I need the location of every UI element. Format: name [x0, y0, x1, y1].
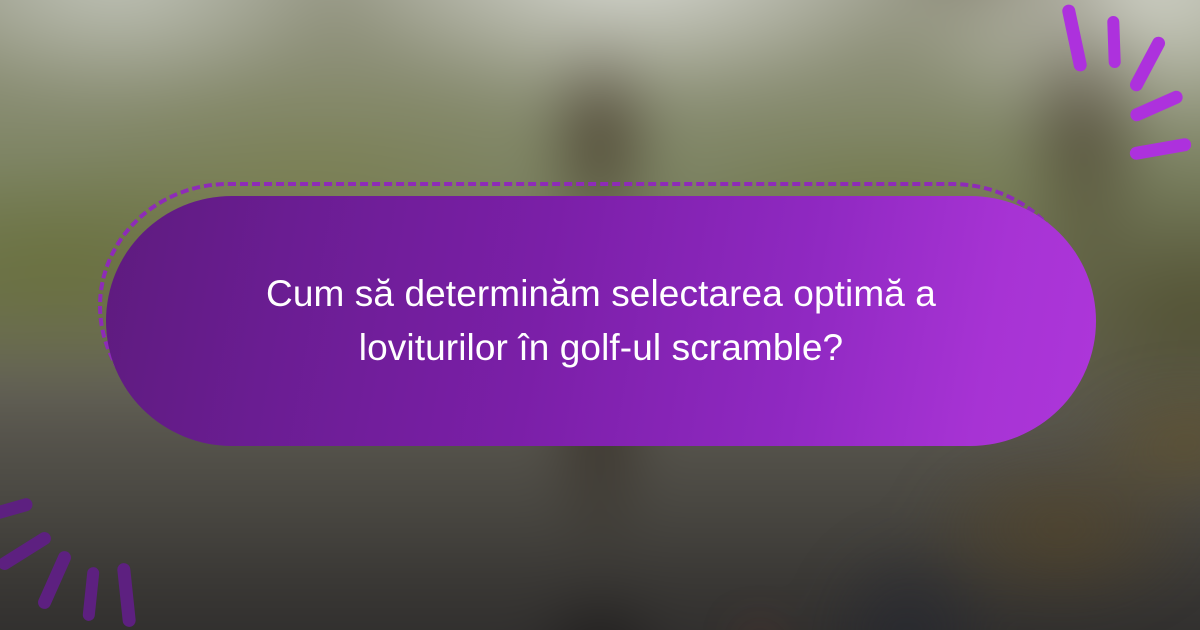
sparkle-ray-1	[0, 497, 34, 528]
sparkle-ray-2	[0, 530, 53, 573]
sparkle-ray-5	[1129, 137, 1192, 161]
sparkle-ray-1	[1061, 3, 1088, 72]
sparkle-burst-bottom-left	[0, 465, 180, 630]
share-card-canvas: Cum să determinăm selectarea optimă a lo…	[0, 0, 1200, 630]
quote-card: Cum să determinăm selectarea optimă a lo…	[106, 196, 1096, 446]
sparkle-ray-4	[1128, 89, 1184, 124]
sparkle-ray-3	[1128, 34, 1168, 93]
sparkle-ray-2	[1107, 16, 1121, 68]
sparkle-ray-4	[82, 567, 100, 622]
sparkle-burst-top-right	[1040, 0, 1200, 160]
sparkle-ray-3	[36, 549, 73, 611]
page-title: Cum să determinăm selectarea optimă a lo…	[224, 267, 978, 376]
sparkle-ray-5	[117, 562, 137, 627]
